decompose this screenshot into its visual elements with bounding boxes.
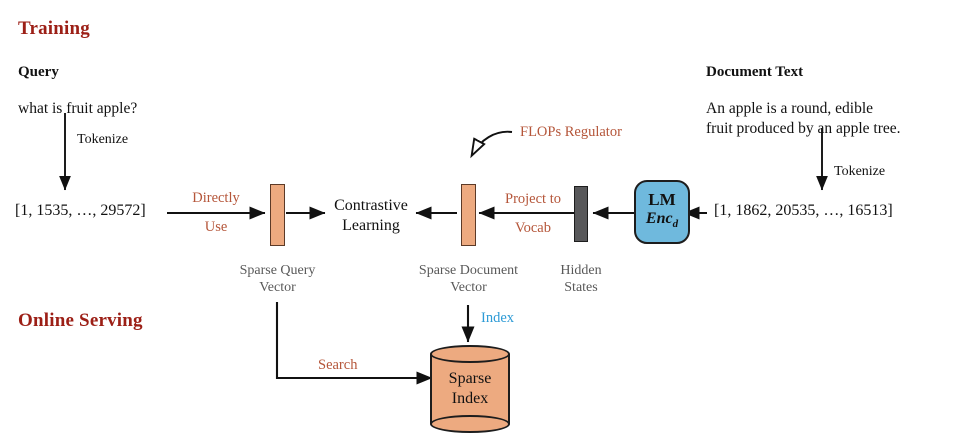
sparse-document-vector-label-line1: Sparse Document <box>401 262 536 279</box>
sparse-document-vector-bar <box>461 184 476 246</box>
hidden-states-label-line1: Hidden <box>541 262 621 279</box>
section-header-online-serving: Online Serving <box>18 310 143 332</box>
sparse-index-label-line2: Index <box>452 389 488 409</box>
edge-label-project-to-vocab-line1: Project to <box>489 190 577 208</box>
sparse-document-vector-label: Sparse Document Vector <box>401 262 536 296</box>
hidden-states-label-line2: States <box>541 279 621 296</box>
edge-label-project-to-vocab-line2: Vocab <box>489 219 577 237</box>
query-text: what is fruit apple? <box>18 98 137 119</box>
edge-label-index: Index <box>481 310 514 327</box>
document-token-list: [1, 1862, 20535, …, 16513] <box>714 202 893 220</box>
sparse-query-vector-label: Sparse Query Vector <box>210 262 345 296</box>
arrow-flops-regulator <box>472 132 512 155</box>
sparse-query-vector-label-line1: Sparse Query <box>210 262 345 279</box>
contrastive-learning-line1: Contrastive <box>327 196 415 216</box>
edge-label-directly-use-line1: Directly <box>178 189 254 207</box>
diagram-canvas: Training Online Serving Query what is fr… <box>0 0 960 441</box>
document-text-line2: fruit produced by an apple tree. <box>706 118 901 139</box>
query-tokenize-label: Tokenize <box>77 132 128 148</box>
hidden-states-label: Hidden States <box>541 262 621 296</box>
lm-encoder-line2: Encd <box>646 209 678 234</box>
edge-label-search: Search <box>318 356 357 374</box>
sparse-index-label-line1: Sparse <box>449 369 492 389</box>
query-heading: Query <box>18 64 59 81</box>
lm-encoder-box: LM Encd <box>634 180 690 244</box>
query-token-list: [1, 1535, …, 29572] <box>15 202 146 220</box>
sparse-query-vector-label-line2: Vector <box>210 279 345 296</box>
flops-regulator-label: FLOPs Regulator <box>520 123 622 141</box>
document-heading: Document Text <box>706 64 803 81</box>
document-text-line1: An apple is a round, edible <box>706 98 873 119</box>
contrastive-learning-node: Contrastive Learning <box>327 196 415 236</box>
document-tokenize-label: Tokenize <box>834 164 885 180</box>
sparse-index-label: Sparse Index <box>430 345 510 433</box>
lm-encoder-line1: LM <box>648 190 675 209</box>
sparse-document-vector-label-line2: Vector <box>401 279 536 296</box>
hidden-states-bar <box>574 186 588 242</box>
contrastive-learning-line2: Learning <box>327 216 415 236</box>
section-header-training: Training <box>18 18 90 40</box>
lm-encoder-enc-text: Enc <box>646 210 673 227</box>
sparse-query-vector-bar <box>270 184 285 246</box>
lm-encoder-subscript: d <box>673 218 679 230</box>
edge-label-directly-use-line2: Use <box>178 218 254 236</box>
sparse-index-cylinder: Sparse Index <box>430 345 510 433</box>
